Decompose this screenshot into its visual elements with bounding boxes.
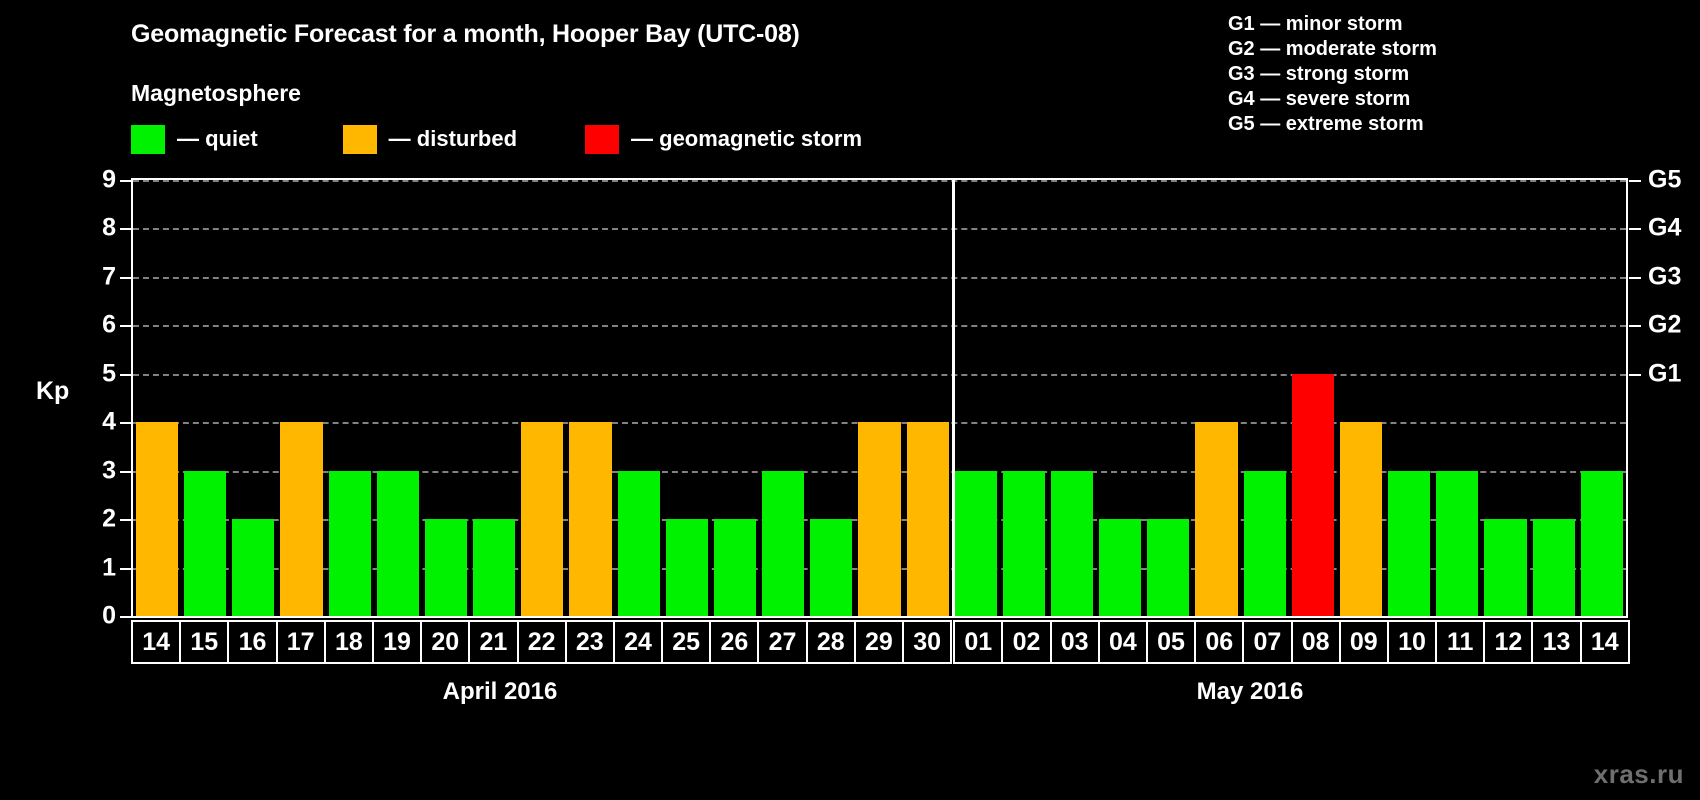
bar-cell [1385, 180, 1433, 616]
page-title: Geomagnetic Forecast for a month, Hooper… [131, 20, 800, 49]
date-cell-06[interactable]: 06 [1194, 620, 1244, 664]
bar-cell [759, 180, 807, 616]
y-tick-mark-8 [120, 228, 131, 230]
bar-cell [1241, 180, 1289, 616]
bar-cell [518, 180, 566, 616]
bar-cell [133, 180, 181, 616]
legend-item-storm: — geomagnetic storm [585, 124, 862, 154]
y-tick-label-3: 3 [76, 456, 116, 485]
bar-cell [1096, 180, 1144, 616]
date-cell-02[interactable]: 02 [1001, 620, 1051, 664]
date-cell-30[interactable]: 30 [902, 620, 952, 664]
y-tick-label-8: 8 [76, 214, 116, 243]
y-tick-label-6: 6 [76, 311, 116, 340]
legend-label: — quiet [177, 126, 258, 152]
bar-27 [762, 471, 804, 616]
date-cell-21[interactable]: 21 [468, 620, 518, 664]
bar-cell [1144, 180, 1192, 616]
bar-28 [810, 519, 852, 616]
date-cell-27[interactable]: 27 [757, 620, 807, 664]
bar-25 [666, 519, 708, 616]
bar-cell [1578, 180, 1626, 616]
y-tick-mark-3 [120, 471, 131, 473]
date-cell-26[interactable]: 26 [709, 620, 759, 664]
bar-cell [422, 180, 470, 616]
bar-07 [1244, 471, 1286, 616]
bar-22 [521, 422, 563, 616]
storm-swatch [585, 125, 619, 154]
bar-29 [858, 422, 900, 616]
month-divider [952, 180, 955, 616]
y-tick-label-4: 4 [76, 408, 116, 437]
bar-cell [277, 180, 325, 616]
bar-cell [1289, 180, 1337, 616]
g-tick-label-G1: G1 [1648, 359, 1681, 388]
bar-23 [569, 422, 611, 616]
date-cell-07[interactable]: 07 [1242, 620, 1292, 664]
date-cell-16[interactable]: 16 [227, 620, 277, 664]
bar-09 [1340, 422, 1382, 616]
date-cell-20[interactable]: 20 [420, 620, 470, 664]
bar-cell [1530, 180, 1578, 616]
bar-cell [1433, 180, 1481, 616]
bar-cell [807, 180, 855, 616]
date-cell-28[interactable]: 28 [806, 620, 856, 664]
bar-08 [1292, 374, 1334, 616]
y-tick-label-2: 2 [76, 505, 116, 534]
g-scale-line-5: G5 — extreme storm [1228, 112, 1437, 137]
magnetosphere-legend: — quiet— disturbed— geomagnetic storm [131, 124, 862, 154]
bar-cell [1000, 180, 1048, 616]
geomagnetic-forecast-chart: Geomagnetic Forecast for a month, Hooper… [0, 0, 1700, 800]
g-tick-label-G3: G3 [1648, 262, 1681, 291]
bar-cell [952, 180, 1000, 616]
date-cell-22[interactable]: 22 [517, 620, 567, 664]
legend-item-disturbed: — disturbed [343, 124, 517, 154]
date-cell-12[interactable]: 12 [1483, 620, 1533, 664]
bar-30 [907, 422, 949, 616]
y-tick-mark-9 [120, 180, 131, 182]
y-tick-label-1: 1 [76, 553, 116, 582]
bar-03 [1051, 471, 1093, 616]
bar-cell [855, 180, 903, 616]
date-cell-10[interactable]: 10 [1387, 620, 1437, 664]
bar-21 [473, 519, 515, 616]
date-cell-14[interactable]: 14 [1580, 620, 1630, 664]
date-cell-18[interactable]: 18 [324, 620, 374, 664]
bar-cell [181, 180, 229, 616]
date-cell-25[interactable]: 25 [661, 620, 711, 664]
g-tick-label-G5: G5 [1648, 166, 1681, 195]
bar-12 [1484, 519, 1526, 616]
watermark: xras.ru [1594, 759, 1684, 790]
g-tick-label-G4: G4 [1648, 214, 1681, 243]
bar-cell [711, 180, 759, 616]
bar-cell [470, 180, 518, 616]
g-tick-mark-G4 [1629, 228, 1641, 230]
y-tick-label-5: 5 [76, 359, 116, 388]
y-axis-title: Kp [36, 377, 69, 406]
y-tick-label-7: 7 [76, 262, 116, 291]
date-cell-09[interactable]: 09 [1339, 620, 1389, 664]
bar-02 [1003, 471, 1045, 616]
bar-24 [618, 471, 660, 616]
disturbed-swatch [343, 125, 377, 154]
g-tick-mark-G1 [1629, 374, 1641, 376]
date-cell-08[interactable]: 08 [1291, 620, 1341, 664]
g-tick-mark-G5 [1629, 180, 1641, 182]
date-cell-04[interactable]: 04 [1098, 620, 1148, 664]
bar-cell [663, 180, 711, 616]
g-scale-line-1: G1 — minor storm [1228, 12, 1437, 37]
g-scale-line-2: G2 — moderate storm [1228, 37, 1437, 62]
date-cell-17[interactable]: 17 [276, 620, 326, 664]
y-tick-label-0: 0 [76, 602, 116, 631]
bar-cell [229, 180, 277, 616]
g-tick-mark-G2 [1629, 325, 1641, 327]
bar-14 [136, 422, 178, 616]
bar-19 [377, 471, 419, 616]
date-axis: 1415161718192021222324252627282930010203… [131, 620, 1628, 664]
bar-14 [1581, 471, 1623, 616]
g-scale-legend: G1 — minor stormG2 — moderate stormG3 — … [1228, 12, 1437, 137]
bar-cell [615, 180, 663, 616]
date-cell-24[interactable]: 24 [613, 620, 663, 664]
bar-cell [566, 180, 614, 616]
bar-26 [714, 519, 756, 616]
plot-inner [133, 180, 1626, 616]
g-scale-line-4: G4 — severe storm [1228, 87, 1437, 112]
magnetosphere-label: Magnetosphere [131, 80, 301, 107]
y-tick-mark-7 [120, 277, 131, 279]
bar-cell [1481, 180, 1529, 616]
g-scale-line-3: G3 — strong storm [1228, 62, 1437, 87]
date-cell-15[interactable]: 15 [179, 620, 229, 664]
bar-10 [1388, 471, 1430, 616]
y-tick-mark-2 [120, 519, 131, 521]
bar-05 [1147, 519, 1189, 616]
bar-cell [904, 180, 952, 616]
bar-cell [1192, 180, 1240, 616]
date-cell-29[interactable]: 29 [854, 620, 904, 664]
g-tick-label-G2: G2 [1648, 311, 1681, 340]
date-cell-01[interactable]: 01 [953, 620, 1003, 664]
g-tick-mark-G3 [1629, 277, 1641, 279]
date-cell-13[interactable]: 13 [1531, 620, 1581, 664]
date-cell-23[interactable]: 23 [565, 620, 615, 664]
date-cell-11[interactable]: 11 [1435, 620, 1485, 664]
bar-06 [1195, 422, 1237, 616]
date-cell-19[interactable]: 19 [372, 620, 422, 664]
y-tick-label-9: 9 [76, 166, 116, 195]
bar-cell [326, 180, 374, 616]
date-cell-03[interactable]: 03 [1050, 620, 1100, 664]
bar-20 [425, 519, 467, 616]
bar-16 [232, 519, 274, 616]
bar-cell [1337, 180, 1385, 616]
y-tick-mark-0 [120, 616, 131, 618]
bar-cell [374, 180, 422, 616]
y-tick-mark-6 [120, 325, 131, 327]
bar-15 [184, 471, 226, 616]
bar-01 [955, 471, 997, 616]
month-caption-april: April 2016 [131, 678, 869, 706]
legend-label: — disturbed [389, 126, 517, 152]
quiet-swatch [131, 125, 165, 154]
y-tick-mark-5 [120, 374, 131, 376]
legend-item-quiet: — quiet [131, 124, 258, 154]
bar-13 [1533, 519, 1575, 616]
y-tick-mark-4 [120, 422, 131, 424]
bar-series [133, 180, 1626, 616]
legend-label: — geomagnetic storm [631, 126, 862, 152]
bar-04 [1099, 519, 1141, 616]
bar-17 [280, 422, 322, 616]
month-caption-may: May 2016 [872, 678, 1628, 706]
date-cell-05[interactable]: 05 [1146, 620, 1196, 664]
date-cell-14[interactable]: 14 [131, 620, 181, 664]
bar-18 [329, 471, 371, 616]
y-tick-mark-1 [120, 568, 131, 570]
bar-cell [1048, 180, 1096, 616]
plot-area [131, 178, 1628, 618]
bar-11 [1436, 471, 1478, 616]
